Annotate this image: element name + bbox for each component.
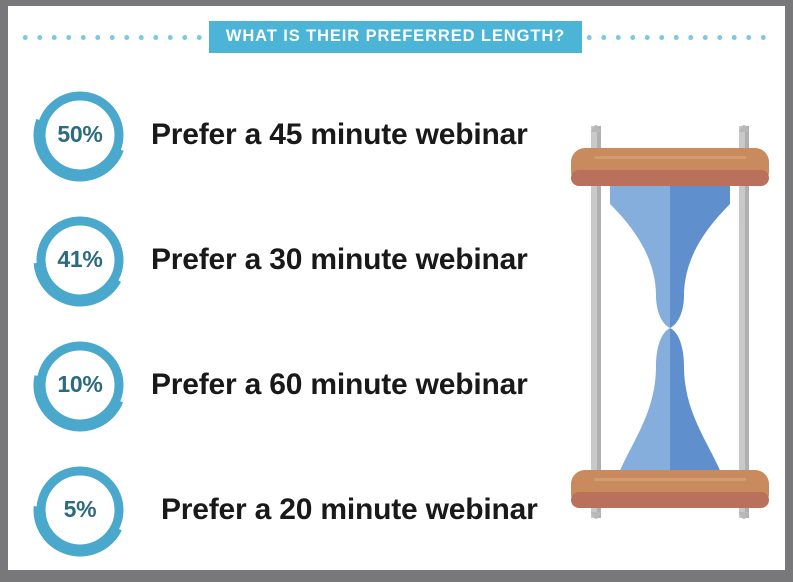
- donut-chart-50: 50%: [32, 87, 128, 183]
- hourglass-top-bar: [571, 148, 769, 186]
- stat-label: Prefer a 20 minute webinar: [161, 493, 538, 527]
- stat-row: 5% Prefer a 20 minute webinar: [8, 447, 568, 570]
- dotted-rule-right: [582, 34, 773, 41]
- stat-row: 41% Prefer a 30 minute webinar: [8, 197, 568, 322]
- donut-chart-5: 5%: [32, 462, 128, 558]
- dotted-rule-left: [18, 34, 209, 41]
- stat-row: 50% Prefer a 45 minute webinar: [8, 72, 568, 197]
- hourglass-illustration: [564, 118, 776, 538]
- stat-list: 50% Prefer a 45 minute webinar 41% Prefe…: [8, 72, 568, 570]
- donut-percent-label: 41%: [32, 212, 128, 308]
- infographic-card: WHAT IS THEIR PREFERRED LENGTH? 50% Pref…: [8, 6, 785, 570]
- hourglass-icon: [564, 118, 776, 538]
- header: WHAT IS THEIR PREFERRED LENGTH?: [8, 20, 785, 54]
- donut-chart-41: 41%: [32, 212, 128, 308]
- infographic-canvas: WHAT IS THEIR PREFERRED LENGTH? 50% Pref…: [0, 0, 793, 582]
- stat-label: Prefer a 60 minute webinar: [151, 368, 528, 402]
- donut-chart-10: 10%: [32, 337, 128, 433]
- hourglass-bottom-bar: [571, 470, 769, 508]
- page-title: WHAT IS THEIR PREFERRED LENGTH?: [209, 21, 582, 53]
- stat-row: 10% Prefer a 60 minute webinar: [8, 322, 568, 447]
- donut-percent-label: 5%: [32, 462, 128, 558]
- donut-percent-label: 50%: [32, 87, 128, 183]
- donut-percent-label: 10%: [32, 337, 128, 433]
- hourglass-sand: [610, 160, 730, 486]
- stat-label: Prefer a 45 minute webinar: [151, 118, 528, 152]
- stat-label: Prefer a 30 minute webinar: [151, 243, 528, 277]
